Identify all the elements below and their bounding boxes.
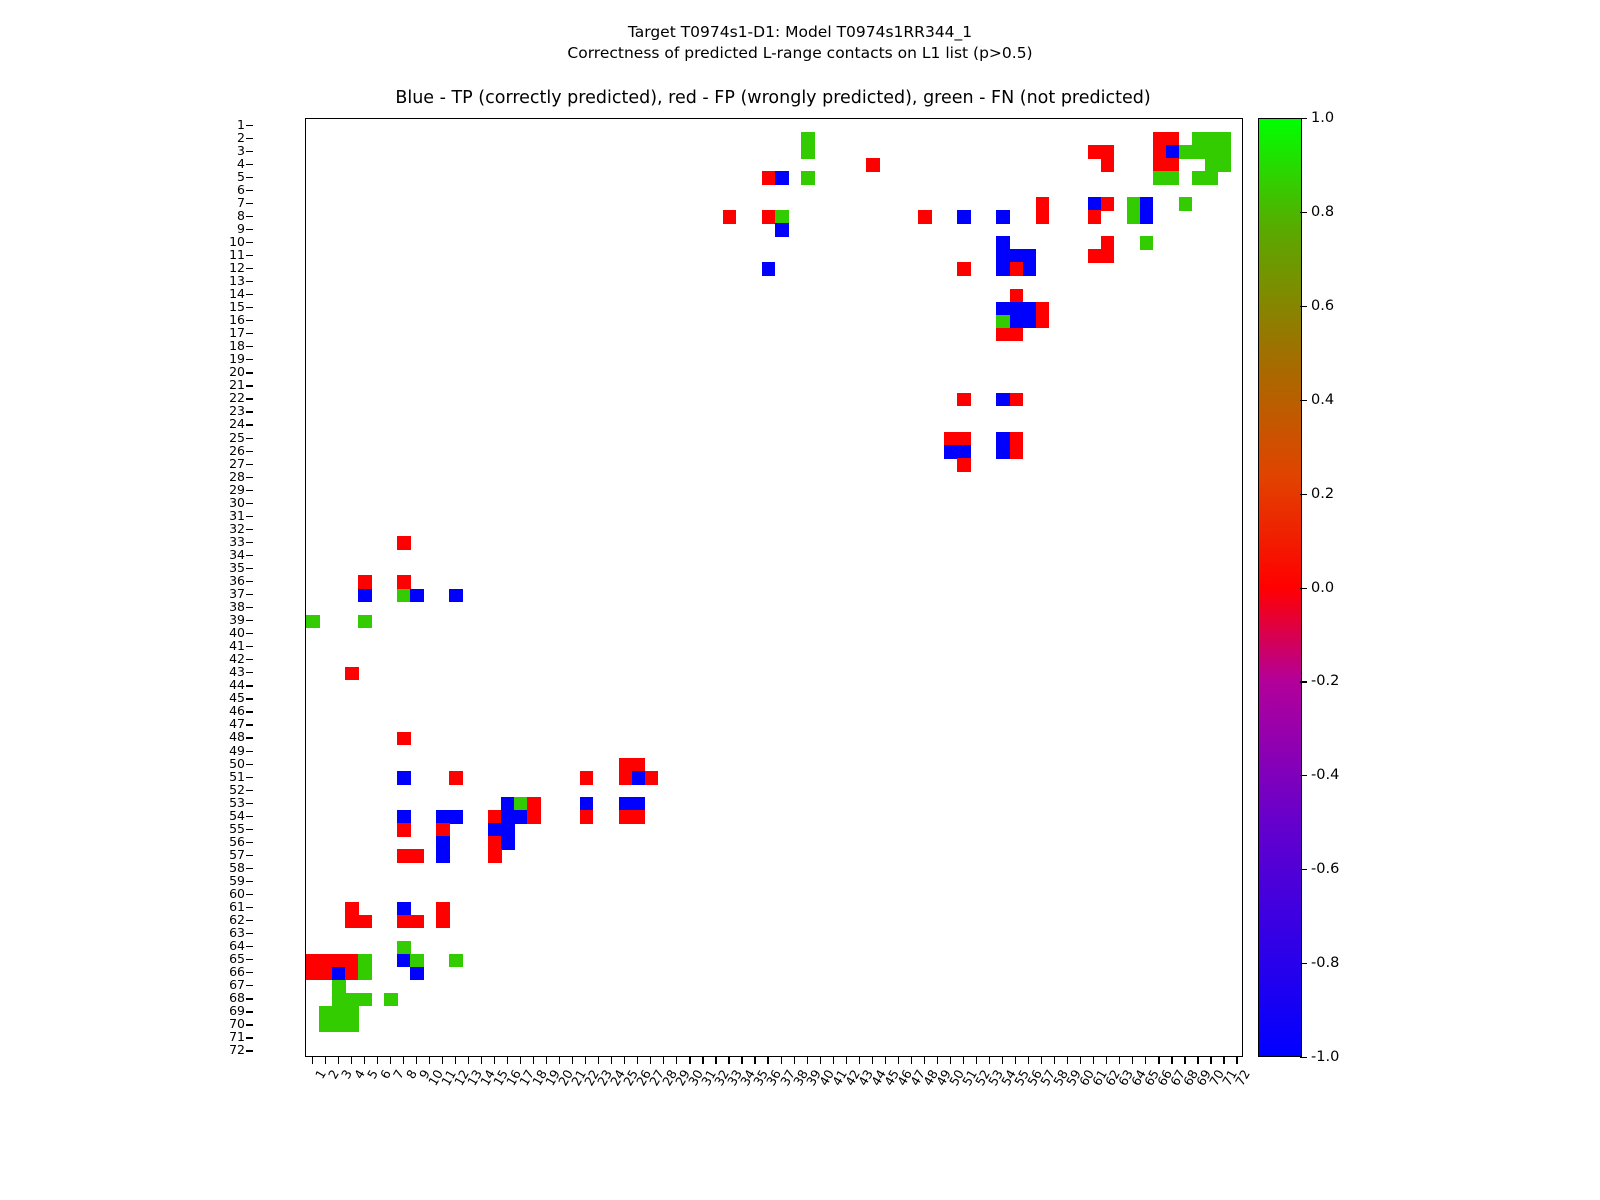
contact-cell bbox=[1166, 145, 1180, 159]
contact-cell bbox=[397, 954, 411, 968]
contact-cell bbox=[1192, 171, 1206, 185]
contact-cell bbox=[410, 967, 424, 981]
contact-cell bbox=[345, 954, 359, 968]
contact-cell bbox=[358, 575, 372, 589]
contact-cell bbox=[1010, 289, 1024, 303]
contact-cell bbox=[1088, 249, 1102, 263]
y-tick-mark bbox=[246, 868, 253, 869]
y-tick-mark bbox=[246, 829, 253, 830]
contact-cell bbox=[332, 993, 346, 1007]
contact-cell bbox=[345, 1019, 359, 1033]
contact-cell bbox=[1010, 315, 1024, 329]
y-tick-mark bbox=[246, 568, 253, 569]
colorbar-tick-mark bbox=[1300, 775, 1307, 776]
contact-cell bbox=[410, 915, 424, 929]
x-tick-mark bbox=[390, 1057, 391, 1064]
colorbar-tick-mark bbox=[1300, 869, 1307, 870]
contact-cell bbox=[1192, 132, 1206, 146]
x-tick-mark bbox=[325, 1057, 326, 1064]
colorbar-tick-label: -0.4 bbox=[1311, 767, 1339, 783]
contact-cell bbox=[358, 915, 372, 929]
contact-cell bbox=[1088, 197, 1102, 211]
y-tick-mark bbox=[246, 307, 253, 308]
contact-cell bbox=[397, 915, 411, 929]
contact-cell bbox=[801, 132, 815, 146]
contact-cell bbox=[1153, 132, 1167, 146]
x-tick-mark bbox=[572, 1057, 573, 1064]
contact-cell bbox=[996, 249, 1010, 263]
y-tick-mark bbox=[246, 125, 253, 126]
x-tick-mark bbox=[611, 1057, 612, 1064]
y-tick-mark bbox=[246, 464, 253, 465]
contact-cell bbox=[332, 980, 346, 994]
contact-cell bbox=[580, 771, 594, 785]
contact-cell bbox=[619, 810, 633, 824]
contact-cell bbox=[1101, 236, 1115, 250]
contact-cell bbox=[514, 810, 528, 824]
x-tick-mark bbox=[833, 1057, 834, 1064]
contact-cell bbox=[1127, 210, 1141, 224]
chart-title-primary: Target T0974s1-D1: Model T0974s1RR344_1 bbox=[0, 22, 1600, 43]
x-tick-mark bbox=[1015, 1057, 1016, 1064]
y-tick-mark bbox=[246, 151, 253, 152]
contact-cell bbox=[1205, 171, 1219, 185]
x-tick-mark bbox=[507, 1057, 508, 1064]
x-tick-mark bbox=[1002, 1057, 1003, 1064]
contact-cell bbox=[345, 993, 359, 1007]
colorbar-tick-mark bbox=[1300, 963, 1307, 964]
y-tick-mark bbox=[246, 972, 253, 973]
x-tick-mark bbox=[1171, 1057, 1172, 1064]
contact-cell bbox=[1101, 158, 1115, 172]
contact-cell bbox=[1101, 197, 1115, 211]
y-tick-mark bbox=[246, 1050, 253, 1051]
y-tick-mark bbox=[246, 177, 253, 178]
x-tick-mark bbox=[663, 1057, 664, 1064]
x-tick-mark bbox=[494, 1057, 495, 1064]
contact-cell bbox=[944, 445, 958, 459]
contact-cell bbox=[319, 967, 333, 981]
x-tick-mark bbox=[533, 1057, 534, 1064]
contact-cell bbox=[619, 797, 633, 811]
y-tick-mark bbox=[246, 933, 253, 934]
contact-cell bbox=[1179, 145, 1193, 159]
contact-cell bbox=[397, 823, 411, 837]
contact-cell bbox=[501, 810, 515, 824]
contact-cell bbox=[345, 1006, 359, 1020]
x-tick-mark bbox=[702, 1057, 703, 1064]
y-tick-mark bbox=[246, 672, 253, 673]
contact-cell bbox=[332, 1019, 346, 1033]
contact-cell bbox=[436, 915, 450, 929]
contact-cell bbox=[1140, 236, 1154, 250]
y-tick-mark bbox=[246, 138, 253, 139]
y-tick-mark bbox=[246, 346, 253, 347]
x-axis: 1234567891011121314151617181920212223242… bbox=[305, 1057, 1245, 1197]
x-tick-mark bbox=[1197, 1057, 1198, 1064]
x-tick-mark bbox=[950, 1057, 951, 1064]
contact-cell bbox=[1218, 158, 1232, 172]
y-tick-mark bbox=[246, 242, 253, 243]
x-tick-mark bbox=[754, 1057, 755, 1064]
x-tick-mark bbox=[351, 1057, 352, 1064]
y-tick-mark bbox=[246, 790, 253, 791]
x-tick-mark bbox=[377, 1057, 378, 1064]
colorbar-tick-label: 0.0 bbox=[1311, 580, 1334, 596]
contact-cell bbox=[306, 967, 320, 981]
x-tick-mark bbox=[429, 1057, 430, 1064]
x-tick-mark bbox=[442, 1057, 443, 1064]
contact-cell bbox=[1218, 132, 1232, 146]
contact-cell bbox=[397, 902, 411, 916]
contact-cell bbox=[1088, 145, 1102, 159]
contact-cell bbox=[319, 1006, 333, 1020]
colorbar-tick-label: 0.8 bbox=[1311, 204, 1334, 220]
contact-cell bbox=[1010, 432, 1024, 446]
contact-cell bbox=[436, 823, 450, 837]
contact-cell bbox=[957, 262, 971, 276]
contact-cell bbox=[436, 849, 450, 863]
contact-cell bbox=[632, 810, 646, 824]
contact-cell bbox=[1205, 158, 1219, 172]
contact-cell bbox=[514, 797, 528, 811]
x-tick-mark bbox=[1106, 1057, 1107, 1064]
colorbar-tick-mark bbox=[1300, 306, 1307, 307]
contact-cell bbox=[632, 758, 646, 772]
x-tick-mark bbox=[312, 1057, 313, 1064]
y-tick-mark bbox=[246, 985, 253, 986]
y-tick-mark bbox=[246, 946, 253, 947]
x-tick-mark bbox=[403, 1057, 404, 1064]
colorbar-tick-mark bbox=[1300, 212, 1307, 213]
contact-cell bbox=[1023, 262, 1037, 276]
contact-cell bbox=[1153, 171, 1167, 185]
contact-cell bbox=[397, 575, 411, 589]
x-tick-mark bbox=[872, 1057, 873, 1064]
y-tick-mark bbox=[246, 659, 253, 660]
contact-cell bbox=[1010, 445, 1024, 459]
colorbar-tick-label: 0.2 bbox=[1311, 486, 1334, 502]
contact-cell bbox=[410, 589, 424, 603]
x-tick-mark bbox=[1041, 1057, 1042, 1064]
contact-cell bbox=[957, 210, 971, 224]
contact-cell bbox=[1023, 315, 1037, 329]
contact-cell bbox=[996, 262, 1010, 276]
contact-cell bbox=[801, 171, 815, 185]
y-tick-mark bbox=[246, 842, 253, 843]
y-tick-mark bbox=[246, 998, 253, 999]
x-tick-mark bbox=[767, 1057, 768, 1064]
contact-cell bbox=[436, 836, 450, 850]
contact-cell bbox=[397, 849, 411, 863]
y-tick-mark bbox=[246, 711, 253, 712]
contact-cell bbox=[1205, 132, 1219, 146]
y-tick-mark bbox=[246, 516, 253, 517]
contact-cell bbox=[1023, 302, 1037, 316]
y-tick-mark bbox=[246, 190, 253, 191]
y-tick-mark bbox=[246, 1011, 253, 1012]
contact-cell bbox=[996, 432, 1010, 446]
contact-cell bbox=[488, 849, 502, 863]
x-tick-mark bbox=[820, 1057, 821, 1064]
contact-cell bbox=[866, 158, 880, 172]
x-tick-mark bbox=[364, 1057, 365, 1064]
y-tick-mark bbox=[246, 333, 253, 334]
contact-cell bbox=[1036, 315, 1050, 329]
contact-cell bbox=[996, 236, 1010, 250]
x-tick-mark bbox=[924, 1057, 925, 1064]
y-tick-mark bbox=[246, 438, 253, 439]
contact-cell bbox=[1218, 145, 1232, 159]
y-tick-mark bbox=[246, 294, 253, 295]
x-tick-mark bbox=[546, 1057, 547, 1064]
y-tick-mark bbox=[246, 451, 253, 452]
contact-cell bbox=[996, 315, 1010, 329]
contact-cell bbox=[397, 732, 411, 746]
x-tick-mark bbox=[559, 1057, 560, 1064]
contact-cell bbox=[645, 771, 659, 785]
contact-cell bbox=[996, 302, 1010, 316]
contact-map-cells bbox=[306, 119, 1242, 1056]
x-tick-mark bbox=[455, 1057, 456, 1064]
contact-cell bbox=[306, 954, 320, 968]
y-tick-mark bbox=[246, 555, 253, 556]
x-tick-mark bbox=[807, 1057, 808, 1064]
contact-cell bbox=[957, 445, 971, 459]
colorbar-tick-label: -0.8 bbox=[1311, 955, 1339, 971]
contact-cell bbox=[1036, 197, 1050, 211]
y-tick-mark bbox=[246, 894, 253, 895]
contact-cell bbox=[762, 262, 776, 276]
x-tick-mark bbox=[481, 1057, 482, 1064]
contact-cell bbox=[619, 771, 633, 785]
y-tick-mark bbox=[246, 372, 253, 373]
contact-cell bbox=[1140, 197, 1154, 211]
contact-cell bbox=[775, 171, 789, 185]
contact-cell bbox=[996, 210, 1010, 224]
y-tick-mark bbox=[246, 764, 253, 765]
contact-cell bbox=[775, 223, 789, 237]
y-tick-mark bbox=[246, 881, 253, 882]
contact-cell bbox=[1166, 132, 1180, 146]
y-tick-mark bbox=[246, 698, 253, 699]
y-tick-mark bbox=[246, 803, 253, 804]
x-tick-mark bbox=[859, 1057, 860, 1064]
contact-cell bbox=[1023, 249, 1037, 263]
x-tick-mark bbox=[976, 1057, 977, 1064]
contact-cell bbox=[1101, 249, 1115, 263]
y-tick-mark bbox=[246, 385, 253, 386]
y-tick-mark bbox=[246, 724, 253, 725]
contact-cell bbox=[944, 432, 958, 446]
contact-cell bbox=[723, 210, 737, 224]
colorbar-tick-label: -1.0 bbox=[1311, 1049, 1339, 1065]
y-tick-mark bbox=[246, 737, 253, 738]
y-tick-mark bbox=[246, 359, 253, 360]
y-tick-mark bbox=[246, 685, 253, 686]
contact-cell bbox=[1101, 145, 1115, 159]
contact-cell bbox=[1166, 171, 1180, 185]
contact-cell bbox=[410, 849, 424, 863]
x-tick-mark bbox=[1067, 1057, 1068, 1064]
contact-cell bbox=[957, 432, 971, 446]
contact-cell bbox=[358, 954, 372, 968]
y-tick-mark bbox=[246, 490, 253, 491]
contact-cell bbox=[358, 615, 372, 629]
y-tick-mark bbox=[246, 1037, 253, 1038]
contact-cell bbox=[762, 210, 776, 224]
x-tick-mark bbox=[468, 1057, 469, 1064]
contact-cell bbox=[384, 993, 398, 1007]
contact-cell bbox=[501, 823, 515, 837]
contact-cell bbox=[397, 589, 411, 603]
colorbar-tick-label: -0.2 bbox=[1311, 673, 1339, 689]
x-tick-mark bbox=[1119, 1057, 1120, 1064]
y-tick-mark bbox=[246, 477, 253, 478]
contact-cell bbox=[332, 1006, 346, 1020]
contact-cell bbox=[345, 667, 359, 681]
contact-cell bbox=[580, 810, 594, 824]
x-tick-mark bbox=[650, 1057, 651, 1064]
y-tick-mark bbox=[246, 777, 253, 778]
contact-cell bbox=[449, 589, 463, 603]
colorbar-gradient bbox=[1258, 118, 1302, 1057]
x-tick-mark bbox=[885, 1057, 886, 1064]
y-tick-mark bbox=[246, 229, 253, 230]
y-tick-mark bbox=[246, 920, 253, 921]
x-tick-mark bbox=[1054, 1057, 1055, 1064]
y-tick-mark bbox=[246, 607, 253, 608]
contact-cell bbox=[1127, 197, 1141, 211]
y-tick-mark bbox=[246, 816, 253, 817]
x-tick-mark bbox=[728, 1057, 729, 1064]
contact-cell bbox=[319, 1019, 333, 1033]
contact-cell bbox=[410, 954, 424, 968]
y-tick-mark bbox=[246, 542, 253, 543]
x-tick-mark bbox=[689, 1057, 690, 1064]
contact-cell bbox=[436, 902, 450, 916]
contact-cell bbox=[358, 589, 372, 603]
y-tick-mark bbox=[246, 620, 253, 621]
contact-cell bbox=[1166, 158, 1180, 172]
contact-cell bbox=[527, 810, 541, 824]
x-tick-mark bbox=[585, 1057, 586, 1064]
contact-cell bbox=[1153, 158, 1167, 172]
contact-cell bbox=[1010, 302, 1024, 316]
y-tick-mark bbox=[246, 959, 253, 960]
y-tick-mark bbox=[246, 268, 253, 269]
contact-cell bbox=[488, 810, 502, 824]
contact-cell bbox=[345, 902, 359, 916]
contact-cell bbox=[358, 993, 372, 1007]
x-tick-mark bbox=[520, 1057, 521, 1064]
contact-cell bbox=[996, 328, 1010, 342]
y-tick-mark bbox=[246, 320, 253, 321]
colorbar-tick-label: 0.4 bbox=[1311, 392, 1334, 408]
contact-cell bbox=[527, 797, 541, 811]
contact-cell bbox=[801, 145, 815, 159]
x-tick-mark bbox=[676, 1057, 677, 1064]
contact-cell bbox=[996, 393, 1010, 407]
x-tick-mark bbox=[624, 1057, 625, 1064]
contact-cell bbox=[1010, 393, 1024, 407]
colorbar-tick-mark bbox=[1300, 681, 1307, 682]
contact-cell bbox=[358, 967, 372, 981]
contact-cell bbox=[1179, 197, 1193, 211]
y-tick-label: 72 bbox=[205, 1044, 245, 1056]
colorbar-tick-mark bbox=[1300, 400, 1307, 401]
contact-cell bbox=[1036, 210, 1050, 224]
x-tick-mark bbox=[1236, 1057, 1237, 1064]
contact-cell bbox=[488, 823, 502, 837]
contact-cell bbox=[632, 771, 646, 785]
contact-cell bbox=[775, 210, 789, 224]
x-tick-mark bbox=[1028, 1057, 1029, 1064]
x-tick-mark bbox=[781, 1057, 782, 1064]
contact-cell bbox=[1192, 145, 1206, 159]
x-tick-mark bbox=[637, 1057, 638, 1064]
x-tick-mark bbox=[338, 1057, 339, 1064]
colorbar-tick-mark bbox=[1300, 494, 1307, 495]
contact-cell bbox=[449, 954, 463, 968]
contact-cell bbox=[345, 967, 359, 981]
colorbar-tick-mark bbox=[1300, 588, 1307, 589]
y-tick-mark bbox=[246, 1024, 253, 1025]
x-tick-mark bbox=[794, 1057, 795, 1064]
contact-cell bbox=[1010, 328, 1024, 342]
contact-cell bbox=[762, 171, 776, 185]
contact-cell bbox=[1088, 210, 1102, 224]
contact-map-plot-area[interactable] bbox=[305, 118, 1243, 1057]
contact-cell bbox=[501, 836, 515, 850]
contact-cell bbox=[1140, 210, 1154, 224]
x-tick-mark bbox=[963, 1057, 964, 1064]
y-tick-mark bbox=[246, 203, 253, 204]
y-tick-mark bbox=[246, 255, 253, 256]
contact-cell bbox=[449, 771, 463, 785]
colorbar-wrapper bbox=[1258, 118, 1304, 1057]
x-tick-mark bbox=[1223, 1057, 1224, 1064]
y-tick-mark bbox=[246, 751, 253, 752]
y-tick-mark bbox=[246, 281, 253, 282]
chart-title-block: Target T0974s1-D1: Model T0974s1RR344_1 … bbox=[0, 22, 1600, 64]
chart-title-secondary: Correctness of predicted L-range contact… bbox=[0, 43, 1600, 64]
contact-cell bbox=[449, 810, 463, 824]
x-tick-mark bbox=[416, 1057, 417, 1064]
colorbar-tick-label: 0.6 bbox=[1311, 298, 1334, 314]
contact-cell bbox=[957, 393, 971, 407]
y-tick-mark bbox=[246, 398, 253, 399]
y-tick-mark bbox=[246, 411, 253, 412]
x-tick-mark bbox=[715, 1057, 716, 1064]
contact-cell bbox=[996, 445, 1010, 459]
contact-cell bbox=[1205, 145, 1219, 159]
chart-legend-caption: Blue - TP (correctly predicted), red - F… bbox=[0, 88, 1546, 108]
contact-cell bbox=[436, 810, 450, 824]
y-tick-mark bbox=[246, 216, 253, 217]
contact-cell bbox=[397, 810, 411, 824]
contact-cell bbox=[332, 954, 346, 968]
contact-cell bbox=[501, 797, 515, 811]
contact-cell bbox=[580, 797, 594, 811]
x-tick-mark bbox=[1158, 1057, 1159, 1064]
x-tick-mark bbox=[741, 1057, 742, 1064]
y-tick-mark bbox=[246, 855, 253, 856]
x-tick-mark bbox=[598, 1057, 599, 1064]
x-tick-mark bbox=[1184, 1057, 1185, 1064]
y-tick-mark bbox=[246, 646, 253, 647]
y-tick-mark bbox=[246, 164, 253, 165]
